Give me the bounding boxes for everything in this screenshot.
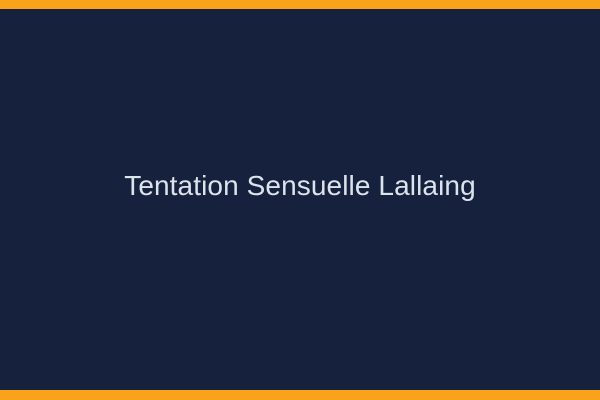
placeholder-banner: Tentation Sensuelle Lallaing <box>0 0 600 400</box>
top-accent-bar <box>0 0 600 9</box>
bottom-accent-bar <box>0 390 600 400</box>
banner-content-area: Tentation Sensuelle Lallaing <box>0 9 600 390</box>
banner-title: Tentation Sensuelle Lallaing <box>108 169 492 203</box>
